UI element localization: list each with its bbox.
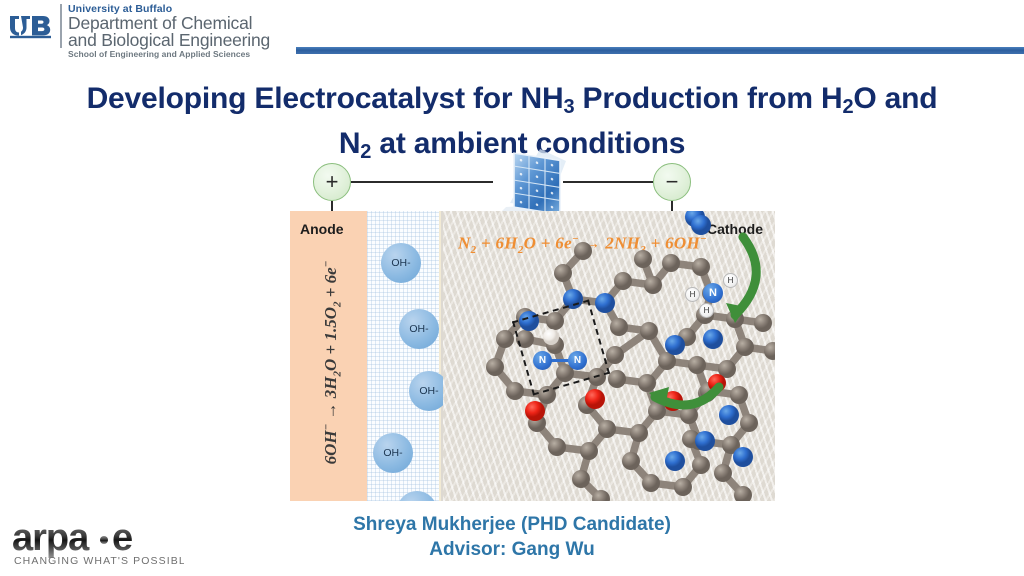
slide-header: University at Buffalo Department of Chem… xyxy=(0,0,1024,56)
department-line-2: and Biological Engineering xyxy=(68,32,270,49)
n-atom-left: N xyxy=(533,351,552,370)
circuit-diagram: + − xyxy=(280,155,730,210)
title-line1-part1: Developing Electrocatalyst for NH xyxy=(87,82,564,115)
wire-right xyxy=(563,181,653,183)
svg-text:arpa: arpa xyxy=(12,517,90,559)
arpa-e-logo-icon: arpa e CHANGING WHAT'S POSSIBLE xyxy=(8,516,184,568)
ammonia-nitrogen: N xyxy=(703,283,723,303)
anode-reaction-equation: 6OH− → 3H2O + 1.5O2 + 6e− xyxy=(320,243,343,483)
school-name: School of Engineering and Applied Scienc… xyxy=(68,49,270,60)
cathode-negative-terminal: − xyxy=(653,163,691,201)
solar-panel-icon xyxy=(488,145,570,213)
header-accent-bar xyxy=(296,47,1024,54)
anode-eq-sub1: 2 xyxy=(332,371,344,377)
anode-compartment: Anode 6OH− → 3H2O + 1.5O2 + 6e− xyxy=(290,211,367,501)
title-nh3-subscript: 3 xyxy=(563,96,574,118)
anode-eq-sup2: − xyxy=(320,261,332,268)
hydroxide-ion: OH- xyxy=(381,243,421,283)
anode-eq-p2: → 3H xyxy=(321,377,340,424)
electrolyzer-diagram: Anode 6OH− → 3H2O + 1.5O2 + 6e− OH- OH- … xyxy=(290,211,775,501)
graphene-catalyst-structure xyxy=(443,211,775,501)
ammonia-hydrogen: H xyxy=(685,287,700,302)
svg-text:e: e xyxy=(112,517,133,559)
ammonia-molecule: N H H H xyxy=(685,273,741,319)
header-divider xyxy=(60,4,62,48)
anode-eq-sup1: − xyxy=(320,424,332,431)
anode-label: Anode xyxy=(300,221,344,237)
ammonia-hydrogen: H xyxy=(723,273,738,288)
anode-eq-p1: 6OH xyxy=(321,430,340,464)
hydroxide-ion: OH- xyxy=(399,309,439,349)
anode-positive-terminal: + xyxy=(313,163,351,201)
arpa-e-tagline: CHANGING WHAT'S POSSIBLE xyxy=(14,555,184,567)
n-atom-right: N xyxy=(568,351,587,370)
title-line1-part2: Production from H xyxy=(574,82,842,115)
hydroxide-ion: OH- xyxy=(397,491,437,501)
anode-eq-sub2: 2 xyxy=(332,302,344,308)
ub-logo-icon xyxy=(8,10,56,40)
anode-eq-p4: + 6e xyxy=(321,267,340,301)
electrolyte-membrane: OH- OH- OH- OH- OH- xyxy=(367,211,441,501)
title-h2o-subscript: 2 xyxy=(842,96,853,118)
wire-left xyxy=(351,181,493,183)
hydroxide-ion: OH- xyxy=(373,433,413,473)
ammonia-hydrogen: H xyxy=(699,303,714,318)
anode-eq-p3: O + 1.5O xyxy=(321,307,340,371)
title-line1-part3: O and xyxy=(853,82,937,115)
header-text-block: University at Buffalo Department of Chem… xyxy=(68,3,270,60)
